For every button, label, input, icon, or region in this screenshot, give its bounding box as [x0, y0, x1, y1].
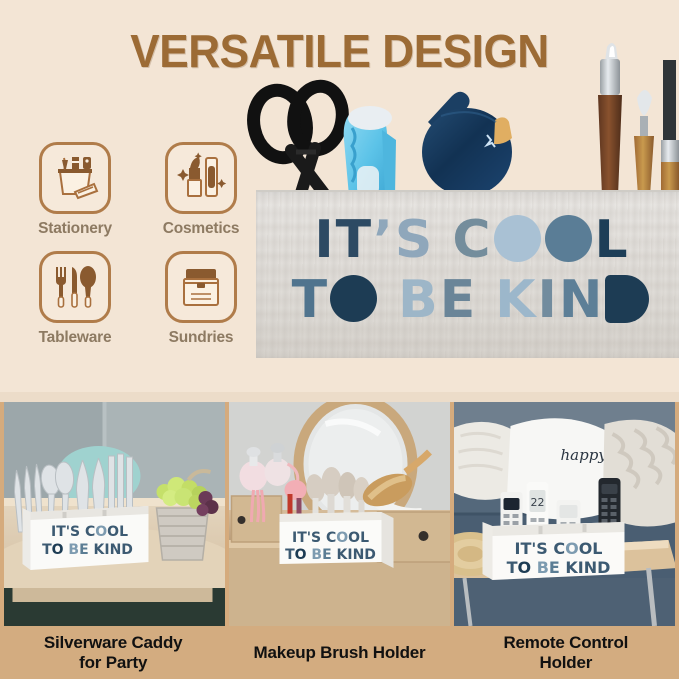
caption-line1: Makeup Brush Holder	[254, 643, 426, 662]
caption-band: Silverware Caddyfor Party Makeup Brush H…	[0, 626, 679, 679]
sign-letter-t: T	[336, 214, 371, 266]
caption-line1: Remote Control	[503, 633, 628, 652]
sign-letter-o	[494, 215, 541, 262]
section-divider	[0, 392, 679, 402]
feature-item-sundries[interactable]: Sundries	[144, 251, 258, 346]
scene-living-room: happy place	[454, 402, 675, 626]
sign-letter-n: N	[559, 274, 603, 326]
caddy-text-line2: TO BE KIND	[42, 542, 133, 558]
use-case-panel-silverware[interactable]: IT'S COOL TO BE KIND	[4, 402, 225, 626]
lipstick-cosmetics-icon	[173, 150, 229, 206]
caddy-text-line2: TO BE KIND	[285, 547, 376, 563]
caddy-text-line1: IT'S COOL	[514, 539, 602, 558]
feature-label: Cosmetics	[163, 221, 240, 237]
black-scissors-icon	[247, 82, 347, 196]
sign-letter-s: S	[395, 214, 432, 266]
svg-text:22: 22	[531, 496, 545, 509]
caption-makeup: Makeup Brush Holder	[226, 626, 452, 679]
top-section: VERSATILE DESIGN	[0, 0, 679, 396]
wooden-clay-tool-icon	[634, 90, 654, 196]
caddy-text-line2: TO BE KIND	[507, 558, 611, 577]
sign-line-1: IT’SCL	[256, 214, 679, 266]
feature-icon-frame	[39, 142, 111, 214]
sign-letter-i: I	[314, 214, 333, 266]
sign-letter-k: K	[495, 274, 535, 326]
sign-letter-apos: ’	[373, 214, 393, 266]
feature-icon-frame	[165, 251, 237, 323]
caption-silverware: Silverware Caddyfor Party	[0, 626, 226, 679]
storage-box-icon	[173, 259, 229, 315]
caption-line2: Holder	[540, 653, 593, 672]
sign-letter-o	[330, 275, 377, 322]
caption-line2: for Party	[79, 653, 147, 672]
product-sign-board: IT’SCL TBEKIN	[256, 190, 679, 358]
feature-item-tableware[interactable]: Tableware	[18, 251, 132, 346]
sign-letter-l: L	[595, 214, 628, 266]
sign-letter-e: E	[440, 274, 476, 326]
navy-ping-pong-paddle-icon	[422, 92, 512, 196]
feature-grid: Stationery	[18, 142, 258, 347]
feature-label: Tableware	[39, 330, 112, 346]
caption-line1: Silverware Caddy	[44, 633, 183, 652]
sign-letter-d	[605, 275, 649, 323]
caddy-text-line1: IT'S COOL	[51, 524, 128, 540]
scene-dining-table: IT'S COOL TO BE KIND	[4, 402, 225, 626]
caption-remote: Remote ControlHolder	[453, 626, 679, 679]
sign-letter-i: I	[538, 274, 557, 326]
stationery-cup-icon	[47, 150, 103, 206]
scene-vanity: IT'S COOL TO BE KIND	[229, 402, 450, 626]
wooden-craft-pen-icon	[598, 43, 622, 196]
feature-label: Sundries	[169, 330, 234, 346]
feature-item-stationery[interactable]: Stationery	[18, 142, 132, 237]
sign-letter-t: T	[292, 274, 327, 326]
use-case-panel-remote[interactable]: happy place	[454, 402, 675, 626]
product-infographic: VERSATILE DESIGN	[0, 0, 679, 679]
feature-icon-frame	[165, 142, 237, 214]
product-caddy: IT'S COOL TO BE KIND	[23, 506, 149, 570]
sign-letter-o	[545, 215, 592, 262]
sign-letter-b: B	[398, 274, 438, 326]
use-case-panel-makeup[interactable]: IT'S COOL TO BE KIND	[229, 402, 450, 626]
paint-brush-icon	[661, 60, 679, 196]
blue-scissors-icon	[344, 106, 396, 196]
product-caddy: IT'S COOL TO BE KIND	[483, 522, 625, 580]
feature-label: Stationery	[38, 221, 112, 237]
fork-knife-spoon-icon	[47, 259, 103, 315]
caddy-text-line1: IT'S COOL	[292, 530, 369, 546]
use-case-panels: IT'S COOL TO BE KIND	[0, 402, 679, 626]
sign-line-2: TBEKIN	[256, 274, 679, 326]
product-caddy: IT'S COOL TO BE KIND	[280, 512, 394, 568]
feature-icon-frame	[39, 251, 111, 323]
feature-item-cosmetics[interactable]: Cosmetics	[144, 142, 258, 237]
sign-letter-c: C	[452, 214, 490, 266]
